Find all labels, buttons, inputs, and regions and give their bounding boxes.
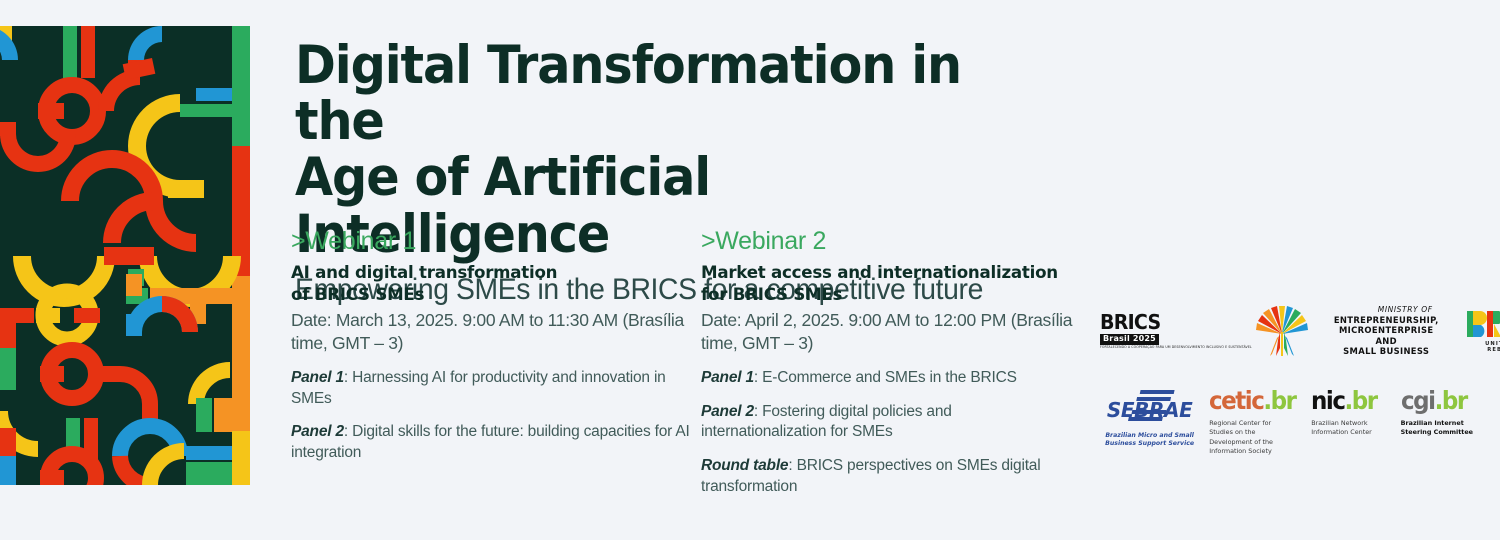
webinar-2-panel-2-label: Panel 2 — [701, 403, 754, 420]
cgi-subtitle-line-2: Steering Committee — [1401, 428, 1473, 436]
ministry-line-2: ENTREPRENEURSHIP, — [1334, 315, 1439, 326]
nic-subtitle: Brazilian Network Information Center — [1311, 419, 1372, 438]
webinar-2-column: >Webinar 2 Market access and internation… — [701, 228, 1091, 510]
ministry-line-3: MICROENTERPRISE AND — [1334, 325, 1439, 346]
webinar-2-title-line-2: for BRICS SMEs — [701, 285, 842, 305]
nic-br-logo: nic.br Brazilian Network Information Cen… — [1311, 388, 1390, 438]
webinar-1-title-line-1: AI and digital transformation — [291, 263, 557, 283]
nic-subtitle-line-2: Information Center — [1311, 428, 1372, 436]
webinar-2-round-table: Round table: BRICS perspectives on SMEs … — [701, 456, 1081, 497]
cetic-word-main: cetic — [1209, 386, 1263, 415]
webinar-banner: Digital Transformation in the Age of Art… — [0, 0, 1500, 540]
cetic-subtitle: Regional Center for Studies on the Devel… — [1209, 419, 1273, 456]
brics-brasil-2025-logo: BRICS Brasil 2025 FORTALECENDO A COOPERA… — [1100, 304, 1308, 358]
cetic-word-br: .br — [1264, 386, 1296, 415]
webinar-1-panel-2: Panel 2: Digital skills for the future: … — [291, 422, 691, 463]
sebrae-subtitle-line-2: Business Support Service — [1105, 440, 1194, 447]
cetic-wordmark: cetic.br — [1209, 388, 1296, 413]
webinar-2-panel-1-label: Panel 1 — [701, 369, 754, 386]
webinar-2-date: Date: April 2, 2025. 9:00 AM to 12:00 PM… — [701, 309, 1081, 354]
brics-wordmark: BRICS — [1100, 312, 1160, 332]
brics-tagline: FORTALECENDO A COOPERAÇÃO PARA UM DESENV… — [1100, 346, 1252, 350]
cetic-subtitle-line-1: Regional Center for — [1209, 419, 1271, 427]
cgi-word-main: cgi — [1401, 386, 1435, 415]
webinar-1-title: AI and digital transformation of BRICS S… — [291, 262, 683, 307]
logos-row-top: BRICS Brasil 2025 FORTALECENDO A COOPERA… — [1100, 300, 1480, 362]
webinar-2-panel-1: Panel 1: E-Commerce and SMEs in the BRIC… — [701, 368, 1081, 389]
ministry-logo: MINISTRY OF ENTREPRENEURSHIP, MICROENTER… — [1334, 305, 1439, 356]
webinar-1-column: >Webinar 1 AI and digital transformation… — [291, 228, 701, 510]
webinar-1-tag: >Webinar 1 — [291, 228, 691, 256]
webinar-1-panel-2-label: Panel 2 — [291, 423, 344, 440]
brasil-government-logo: UNITING AND REBUILDING — [1467, 309, 1500, 353]
cgi-word-br: .br — [1434, 386, 1466, 415]
nic-word-br: .br — [1345, 386, 1377, 415]
logos-section: BRICS Brasil 2025 FORTALECENDO A COOPERA… — [1100, 300, 1480, 460]
webinar-1-panel-2-text: : Digital skills for the future: buildin… — [291, 423, 690, 461]
cgi-subtitle: Brazilian Internet Steering Committee — [1401, 419, 1473, 438]
cgi-subtitle-line-1: Brazilian Internet — [1401, 419, 1464, 427]
sebrae-wordmark: SEBRAE — [1107, 400, 1192, 420]
webinar-1-title-line-2: of BRICS SMEs — [291, 285, 424, 305]
brics-pattern-graphic — [0, 26, 250, 485]
webinar-2-title: Market access and internationalization f… — [701, 262, 1073, 307]
cetic-subtitle-line-2: Studies on the — [1209, 428, 1255, 436]
nic-subtitle-line-1: Brazilian Network — [1311, 419, 1367, 427]
cgi-wordmark: cgi.br — [1401, 388, 1467, 413]
cetic-subtitle-line-3: Development of the — [1209, 438, 1273, 446]
brasil-wordmark-icon — [1467, 309, 1500, 339]
logos-row-bottom: SEBRAE Brazilian Micro and Small Busines… — [1100, 388, 1480, 460]
ministry-line-1: MINISTRY OF — [1334, 305, 1439, 314]
webinar-1-date: Date: March 13, 2025. 9:00 AM to 11:30 A… — [291, 309, 691, 354]
webinar-1-panel-1-text: : Harnessing AI for productivity and inn… — [291, 369, 666, 407]
title-line-1: Digital Transformation in the — [295, 35, 961, 152]
brasil-tagline: UNITING AND REBUILDING — [1467, 341, 1500, 353]
brics-tree-icon — [1256, 304, 1308, 358]
webinar-1-panel-1: Panel 1: Harnessing AI for productivity … — [291, 368, 691, 409]
cetic-br-logo: cetic.br Regional Center for Studies on … — [1209, 388, 1301, 456]
sebrae-subtitle: Brazilian Micro and Small Business Suppo… — [1105, 432, 1194, 449]
webinar-2-panel-2: Panel 2: Fostering digital policies and … — [701, 402, 1081, 443]
webinar-2-round-table-label: Round table — [701, 457, 788, 474]
decorative-pattern-panel — [0, 26, 250, 485]
nic-word-main: nic — [1311, 386, 1344, 415]
webinars-section: >Webinar 1 AI and digital transformation… — [291, 228, 1091, 510]
webinar-2-title-line-1: Market access and internationalization — [701, 263, 1058, 283]
sebrae-logo: SEBRAE Brazilian Micro and Small Busines… — [1100, 388, 1199, 449]
cetic-subtitle-line-4: Information Society — [1209, 447, 1272, 455]
webinar-2-tag: >Webinar 2 — [701, 228, 1081, 256]
sebrae-subtitle-line-1: Brazilian Micro and Small — [1105, 432, 1194, 439]
webinar-2-panel-1-text: : E-Commerce and SMEs in the BRICS — [754, 369, 1017, 386]
webinar-1-panel-1-label: Panel 1 — [291, 369, 344, 386]
brics-year-badge: Brasil 2025 — [1100, 334, 1159, 345]
ministry-line-4: SMALL BUSINESS — [1334, 346, 1439, 357]
nic-wordmark: nic.br — [1311, 388, 1377, 413]
cgi-br-logo: cgi.br Brazilian Internet Steering Commi… — [1401, 388, 1480, 438]
